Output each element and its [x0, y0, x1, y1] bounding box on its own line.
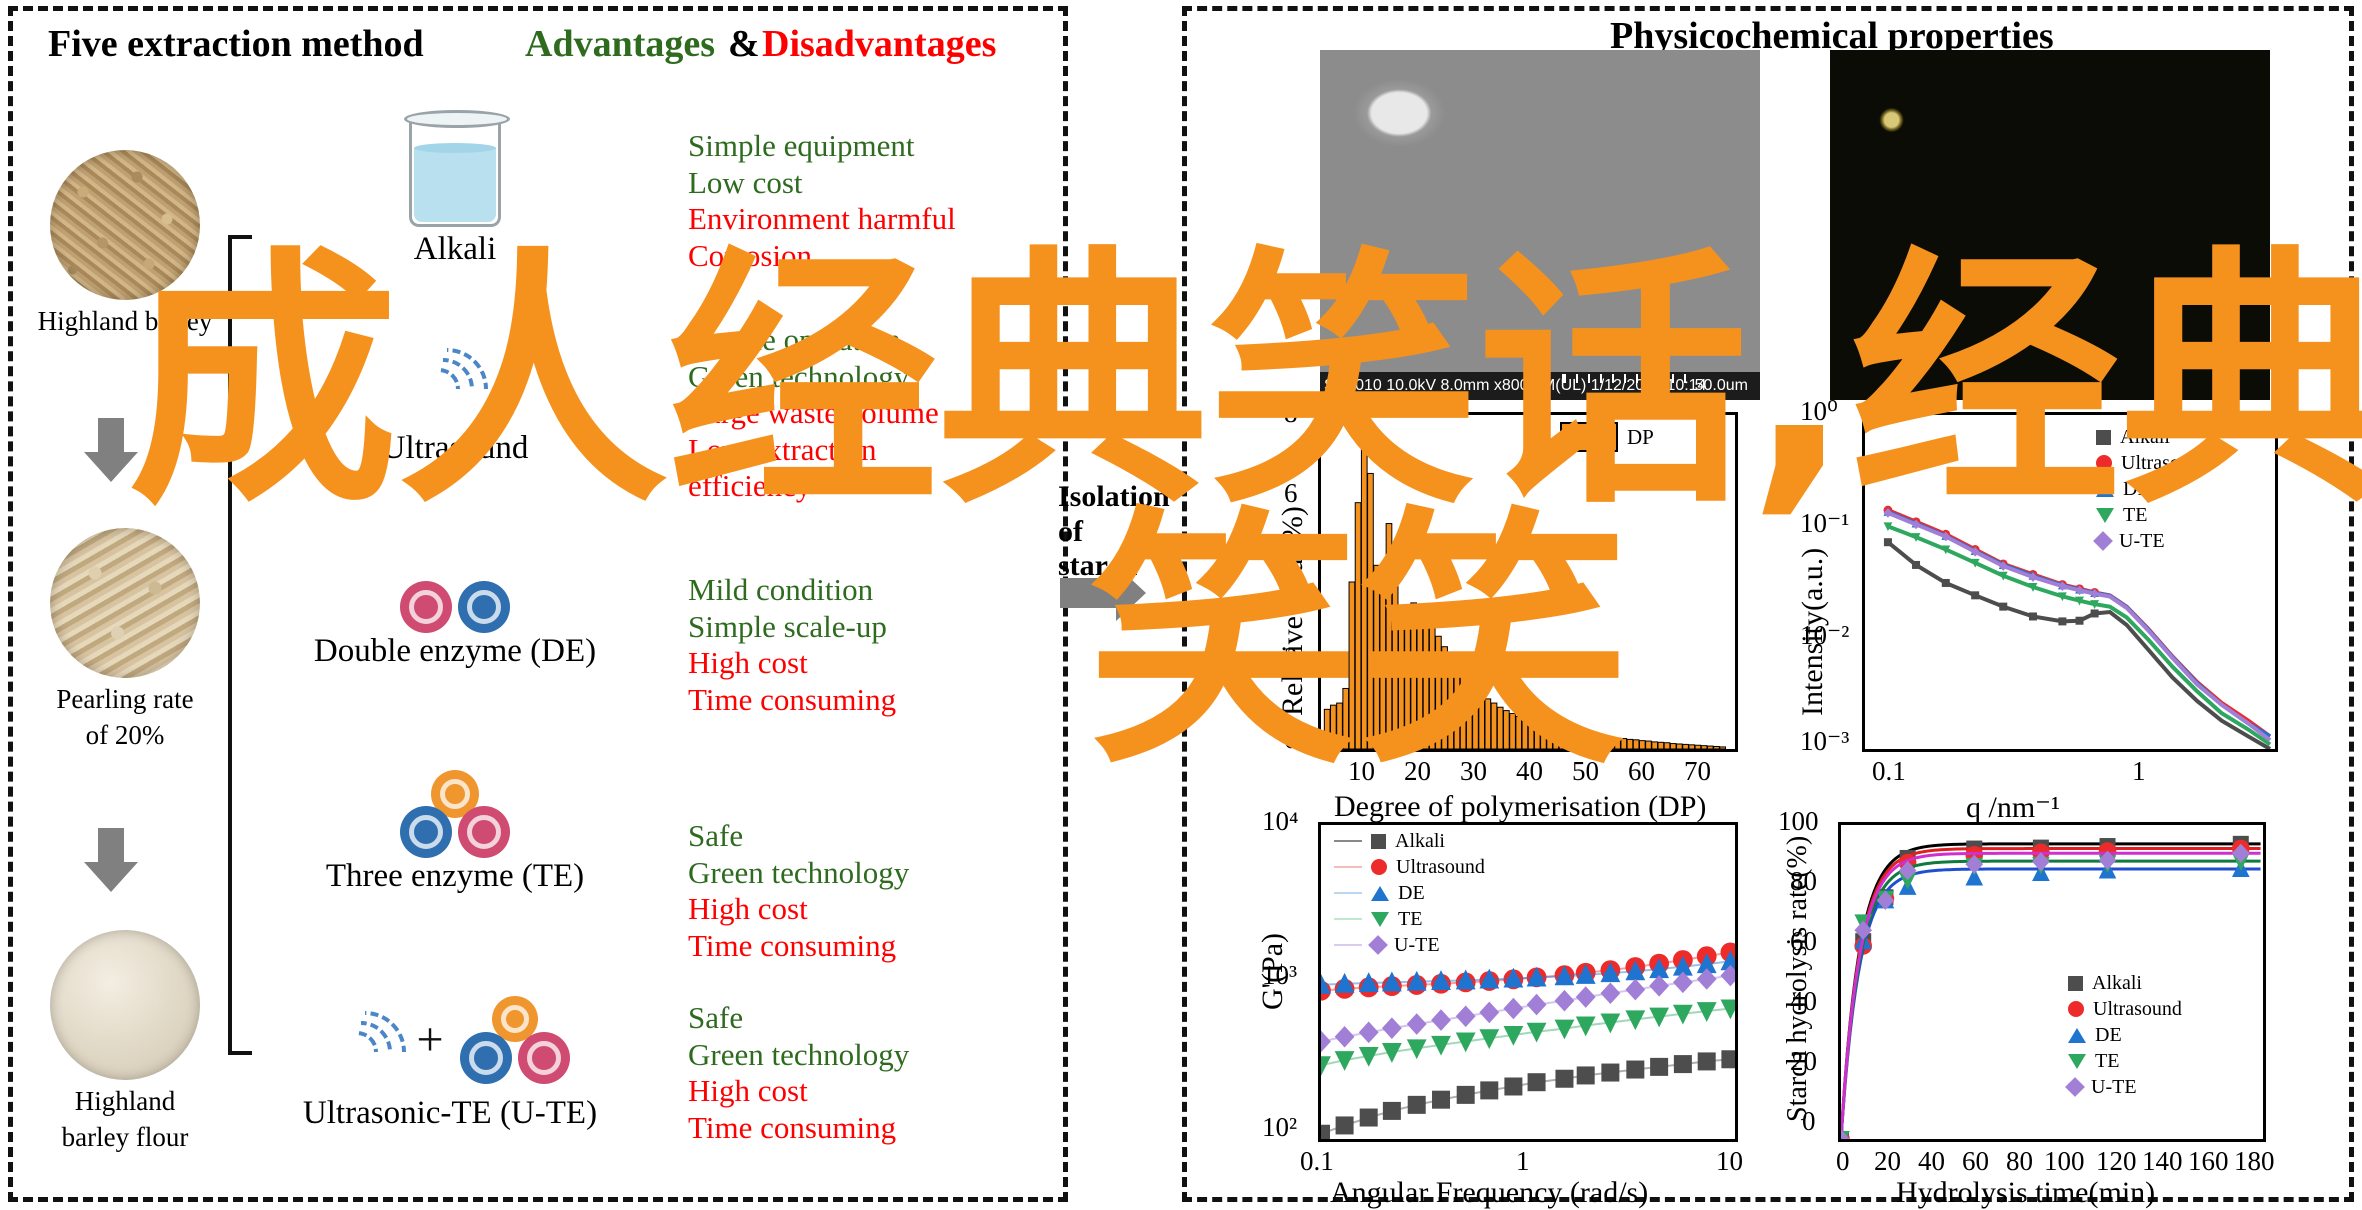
legend-marker-diamond — [1368, 935, 1388, 955]
legend-item-ultrasound: Ultrasound — [2068, 996, 2182, 1022]
legend-label: U-TE — [2091, 1076, 2137, 1099]
legend-marker-triangle-up — [2068, 1028, 2086, 1043]
x-tick: 20 — [1874, 1146, 1901, 1177]
legend-item-alkali: Alkali — [2096, 424, 2210, 450]
x-tick: 10 — [1348, 756, 1375, 787]
y-tick: 10⁴ — [1262, 806, 1298, 837]
plot-area — [1862, 412, 2278, 752]
pearled-barley-icon — [50, 528, 200, 678]
legend-marker-circle — [2068, 1001, 2084, 1017]
legend-label: TE — [1398, 908, 1422, 931]
y-axis-title: Intensity(a.u.) — [1796, 548, 1830, 716]
y-tick: 10² — [1262, 1112, 1297, 1143]
x-tick: 0 — [1836, 1146, 1850, 1177]
advantage-item: Safe — [688, 1000, 1108, 1037]
disadvantage-item: High cost — [688, 891, 1108, 928]
y-tick: 100 — [1778, 806, 1819, 837]
header-disadvantages: Disadvantages — [762, 22, 996, 66]
legend-item-dp: DP — [1560, 424, 1654, 450]
method-label: Alkali — [245, 231, 665, 268]
x-tick: 80 — [2006, 1146, 2033, 1177]
x-tick: 60 — [1628, 756, 1655, 787]
chart-legend: Alkali Ultrasound DE TE U-TE — [2096, 424, 2210, 554]
disadvantage-item: efficiency — [688, 468, 1108, 505]
pros-cons-three-enzyme: Safe Green technology High cost Time con… — [688, 818, 1108, 964]
header-advantages: Advantages — [525, 22, 715, 66]
legend-item-de: DE — [2068, 1022, 2182, 1048]
x-tick: 20 — [1404, 756, 1431, 787]
y-tick: 6 — [1284, 478, 1298, 509]
legend-item-alkali: Alkali — [2068, 970, 2182, 996]
plus-sign: + — [416, 1021, 443, 1059]
two-enzyme-icon — [245, 575, 665, 633]
method-label: Double enzyme (DE) — [245, 633, 665, 670]
dp-bars — [1321, 415, 1735, 749]
legend-item-alkali: Alkali — [1334, 828, 1485, 854]
material-barley-flour: Highland barley flour — [10, 930, 240, 1152]
legend-marker-diamond — [2093, 531, 2113, 551]
legend-marker-square — [2068, 976, 2083, 991]
legend-marker-triangle-up — [2096, 482, 2114, 497]
advantage-item: Safe — [688, 818, 1108, 855]
plot-area — [1838, 822, 2266, 1142]
disadvantage-item: High cost — [688, 1073, 1108, 1110]
y-tick: 0 — [1284, 724, 1298, 755]
legend-marker-diamond — [2065, 1077, 2085, 1097]
method-double-enzyme: Double enzyme (DE) — [245, 575, 665, 670]
legend-item-te: TE — [2068, 1048, 2182, 1074]
down-arrow-1-icon — [98, 418, 124, 452]
y-axis-title: Starch hydrolysis rate(%) — [1782, 836, 1814, 1122]
material-label-line2: of 20% — [10, 720, 240, 750]
legend-marker-square — [1371, 834, 1386, 849]
legend-item-ute: U-TE — [2096, 528, 2210, 554]
header-ampersand: & — [728, 22, 760, 66]
disadvantage-item: Time consuming — [688, 1110, 1108, 1147]
barley-flour-icon — [50, 930, 200, 1080]
y-tick: 10⁻³ — [1800, 726, 1849, 757]
method-label: Ultrasonic-TE (U-TE) — [215, 1095, 685, 1132]
disadvantage-item: Time consuming — [688, 928, 1108, 965]
material-label-line2: barley flour — [10, 1122, 240, 1152]
disadvantage-item: Corrosion — [688, 238, 1108, 275]
legend-swatch-dp — [1560, 422, 1618, 452]
method-ultrasonic-te: + Ultrasonic-TE (U-TE) — [215, 985, 685, 1132]
x-tick: 140 — [2142, 1146, 2183, 1177]
legend-item-te: TE — [1334, 906, 1485, 932]
legend-item-de: DE — [2096, 476, 2210, 502]
y-tick: 10⁰ — [1800, 396, 1838, 427]
barley-grain-icon — [50, 150, 200, 300]
down-arrow-2-icon — [98, 828, 124, 862]
legend-item-te: TE — [2096, 502, 2210, 528]
material-label-line1: Highland — [10, 1086, 240, 1116]
legend-label: DE — [2123, 478, 2150, 501]
x-tick: 40 — [1918, 1146, 1945, 1177]
advantage-item: Green technology — [688, 1037, 1108, 1074]
legend-label: U-TE — [1394, 934, 1440, 957]
legend-item-ultrasound: Ultrasound — [1334, 854, 1485, 880]
polarized-light-micrograph-image — [1830, 50, 2270, 400]
sem-scale-bar: SU8010 10.0kV 8.0mm x800 LM(UL) 1/12/202… — [1320, 372, 1760, 400]
legend-label: TE — [2123, 504, 2147, 527]
isolation-line1: Isolation of — [1058, 480, 1188, 549]
legend-marker-triangle-down — [1371, 912, 1389, 927]
three-enzyme-icon — [460, 996, 570, 1084]
legend-label: Ultrasound — [2093, 998, 2182, 1021]
beaker-icon — [409, 120, 501, 227]
material-highland-barley: Highland barley — [10, 150, 240, 336]
disadvantage-item: Time consuming — [688, 682, 1108, 719]
x-tick: 70 — [1684, 756, 1711, 787]
x-tick: 100 — [2044, 1146, 2085, 1177]
legend-label: TE — [2095, 1050, 2119, 1073]
legend-label: Ultrasound — [2121, 452, 2210, 475]
legend-label: Ultrasound — [1396, 856, 1485, 879]
method-ultrasound: Ultrasound — [245, 340, 665, 467]
advantage-item: Simple equipment — [688, 128, 1108, 165]
disadvantage-item: Environment harmful — [688, 201, 1108, 238]
legend-marker-triangle-down — [2068, 1054, 2086, 1069]
legend-label: Alkali — [2092, 972, 2142, 995]
method-three-enzyme: Three enzyme (TE) — [245, 770, 665, 895]
x-tick: 0.1 — [1300, 1146, 1334, 1177]
advantage-item: Simple scale-up — [688, 609, 1108, 646]
x-tick: 50 — [1572, 756, 1599, 787]
advantage-item: Green technology — [688, 359, 1108, 396]
disadvantage-item: Low extraction — [688, 432, 1108, 469]
hydrolysis-series — [1841, 825, 2263, 1139]
legend-label: U-TE — [2119, 530, 2165, 553]
legend-marker-triangle-down — [2096, 508, 2114, 523]
chart-legend: DP — [1560, 424, 1654, 450]
legend-item-ute: U-TE — [1334, 932, 1485, 958]
advantage-item: Low cost — [688, 165, 1108, 202]
x-tick: 30 — [1460, 756, 1487, 787]
x-tick: 10 — [1716, 1146, 1743, 1177]
legend-marker-square — [2096, 430, 2111, 445]
x-tick: 0.1 — [1872, 756, 1906, 787]
saxs-series — [1865, 415, 2275, 749]
disadvantage-item: Large waste volume — [688, 395, 1108, 432]
enzyme-top-row — [245, 770, 665, 800]
scale-ruler-icon — [1562, 374, 1686, 383]
legend-item-ute: U-TE — [2068, 1074, 2182, 1100]
y-axis-title: G'(Pa) — [1256, 933, 1290, 1010]
x-axis-title: Angular Frequency (rad/s) — [1330, 1176, 1648, 1210]
advantage-item: Mild condition — [688, 572, 1108, 609]
method-label: Ultrasound — [245, 430, 665, 467]
plot-area — [1318, 412, 1738, 752]
x-axis-title: q /nm⁻¹ — [1966, 790, 2060, 825]
x-axis-title: Degree of polymerisation (DP) — [1334, 790, 1706, 824]
legend-item-de: DE — [1334, 880, 1485, 906]
legend-label: Alkali — [2120, 426, 2170, 449]
legend-label: DP — [1627, 425, 1654, 450]
y-tick: 8 — [1284, 398, 1298, 429]
x-tick: 180 — [2234, 1146, 2275, 1177]
legend-label: DE — [2095, 1024, 2122, 1047]
x-tick: 40 — [1516, 756, 1543, 787]
legend-label: Alkali — [1395, 830, 1445, 853]
x-tick: 160 — [2188, 1146, 2229, 1177]
pros-cons-ultrasound: Simple operation Green technology Large … — [688, 322, 1108, 505]
chart-legend: Alkali Ultrasound DE TE U-TE — [1334, 828, 1485, 958]
material-label: Highland barley — [10, 306, 240, 336]
y-axis-title: Relative area (%) — [1276, 506, 1310, 716]
advantage-item: Green technology — [688, 855, 1108, 892]
sem-micrograph-image — [1320, 50, 1760, 400]
legend-marker-circle — [2096, 455, 2112, 471]
legend-marker-circle — [1371, 859, 1387, 875]
chart-legend: Alkali Ultrasound DE TE U-TE — [2068, 970, 2182, 1100]
legend-item-ultrasound: Ultrasound — [2096, 450, 2210, 476]
disadvantage-item: High cost — [688, 645, 1108, 682]
method-alkali: Alkali — [245, 120, 665, 268]
x-tick: 1 — [2132, 756, 2146, 787]
x-tick: 1 — [1516, 1146, 1530, 1177]
x-tick: 60 — [1962, 1146, 1989, 1177]
pros-cons-ultrasonic-te: Safe Green technology High cost Time con… — [688, 1000, 1108, 1146]
pros-cons-alkali: Simple equipment Low cost Environment ha… — [688, 128, 1108, 274]
y-tick: 10⁻¹ — [1800, 508, 1849, 539]
ultrasonic-waves-icon — [330, 1003, 400, 1077]
ultrasonic-waves-icon — [412, 340, 498, 430]
material-label-line1: Pearling rate — [10, 684, 240, 714]
grouping-brace — [228, 235, 232, 1055]
sem-scalebar-length: 50.0um — [1695, 372, 1748, 400]
x-tick: 120 — [2096, 1146, 2137, 1177]
x-axis-title: Hydrolysis time(min) — [1896, 1176, 2155, 1210]
pros-cons-double-enzyme: Mild condition Simple scale-up High cost… — [688, 572, 1108, 718]
legend-marker-triangle-up — [1371, 886, 1389, 901]
legend-label: DE — [1398, 882, 1425, 905]
material-pearled-barley: Pearling rate of 20% — [10, 528, 240, 750]
page-title-five-extraction-method: Five extraction method — [48, 22, 424, 66]
advantage-item: Simple operation — [688, 322, 1108, 359]
method-label: Three enzyme (TE) — [245, 858, 665, 895]
